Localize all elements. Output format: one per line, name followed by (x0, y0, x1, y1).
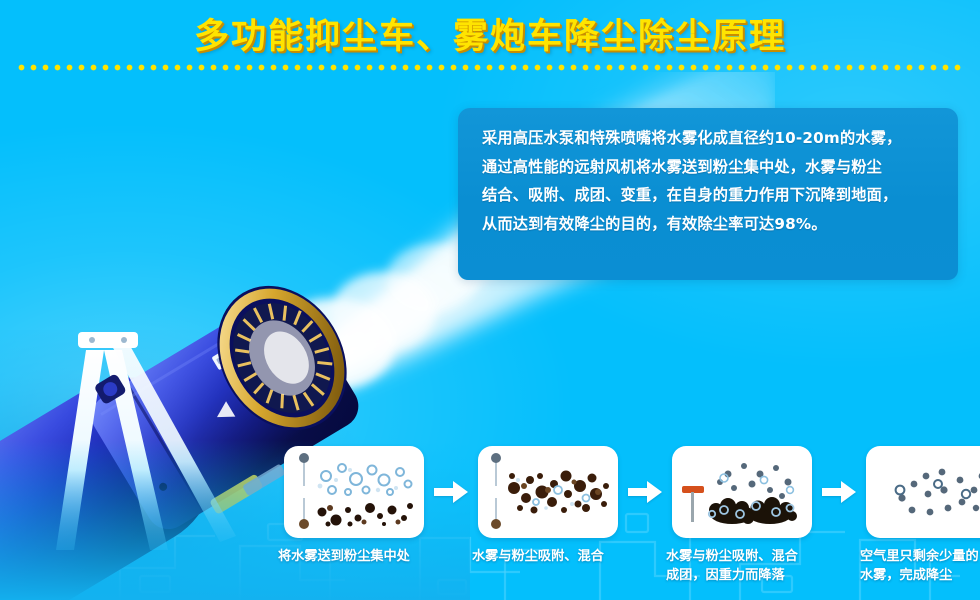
step-4-card (866, 446, 980, 538)
step-2-label: 水雾与粉尘吸附、混合 (468, 547, 628, 566)
page-title: 多功能抑尘车、雾炮车降尘除尘原理 (194, 8, 786, 59)
description-line-2: 通过高性能的远射风机将水雾送到粉尘集中处，水雾与粉尘 (482, 153, 936, 182)
page-title-wrapper: 多功能抑尘车、雾炮车降尘除尘原理 (0, 6, 980, 60)
title-dotted-divider (18, 64, 962, 71)
step-3-label-line1: 水雾与粉尘吸附、混合 (666, 549, 798, 564)
step-4-label: 空气里只剩余少量的 水雾，完成降尘 (856, 547, 980, 585)
description-line-3: 结合、吸附、成团、变重，在自身的重力作用下沉降到地面， (482, 181, 936, 210)
step-3-label-line2: 成团，因重力而降落 (666, 568, 785, 583)
step-1-label: 将水雾送到粉尘集中处 (274, 547, 434, 566)
step-1-card (284, 446, 424, 538)
arrow-right-icon (628, 481, 662, 503)
mist-dust-mixing-icon (478, 446, 618, 538)
step-3-label: 水雾与粉尘吸附、混合 成团，因重力而降落 (662, 547, 822, 585)
process-steps: 将水雾送到粉尘集中处 (278, 446, 978, 596)
step-4-label-line1: 空气里只剩余少量的 (860, 549, 979, 564)
poster-stage: 多功能抑尘车、雾炮车降尘除尘原理 采用高压水泵和特殊喷嘴将水雾化成直径约10-2… (0, 0, 980, 600)
mist-to-dust-icon (284, 446, 424, 538)
arrow-3 (818, 446, 860, 538)
description-line-1: 采用高压水泵和特殊喷嘴将水雾化成直径约10-20m的水雾， (482, 124, 936, 153)
step-1: 将水雾送到粉尘集中处 (278, 446, 430, 566)
arrow-right-icon (434, 481, 468, 503)
arrow-1 (430, 446, 472, 538)
arrow-2 (624, 446, 666, 538)
step-3-card (672, 446, 812, 538)
step-2-card (478, 446, 618, 538)
clump-fallout-icon (672, 446, 812, 538)
arrow-right-icon (822, 481, 856, 503)
description-panel: 采用高压水泵和特殊喷嘴将水雾化成直径约10-20m的水雾， 通过高性能的远射风机… (458, 108, 958, 280)
step-2: 水雾与粉尘吸附、混合 (472, 446, 624, 566)
step-4-label-line2: 水雾，完成降尘 (860, 568, 952, 583)
clean-air-icon (866, 446, 980, 538)
description-line-4: 从而达到有效降尘的目的，有效除尘率可达98%。 (482, 210, 936, 239)
step-4: 空气里只剩余少量的 水雾，完成降尘 (860, 446, 980, 585)
step-3: 水雾与粉尘吸附、混合 成团，因重力而降落 (666, 446, 818, 585)
